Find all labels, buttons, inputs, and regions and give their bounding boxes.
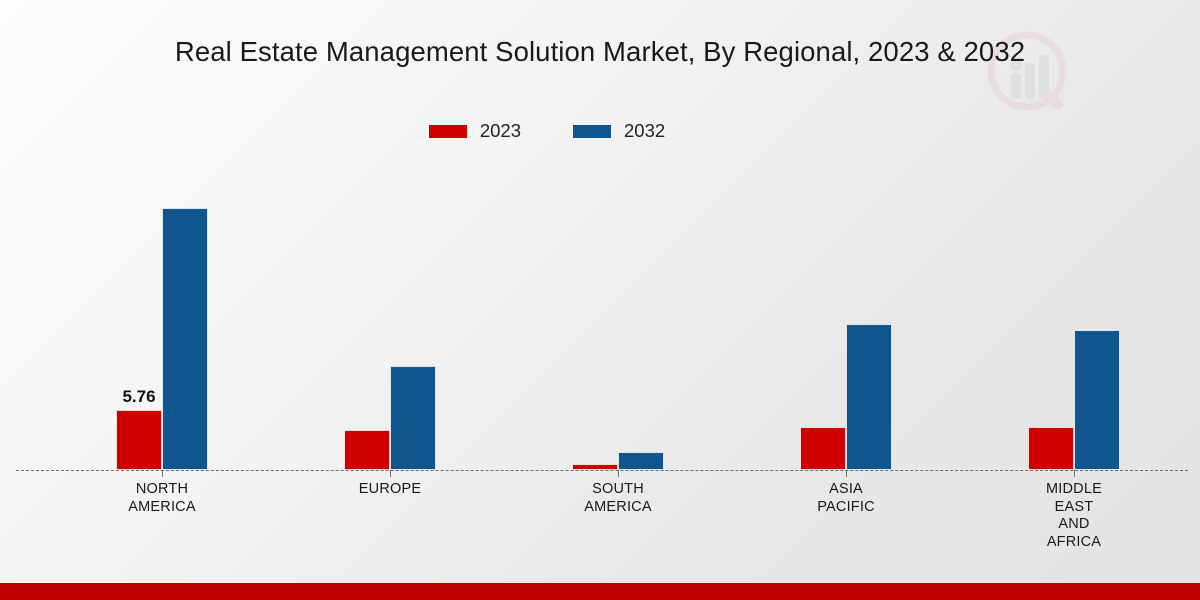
bar-groups: 5.76 bbox=[48, 170, 1188, 470]
x-axis-categories: NORTHAMERICAEUROPESOUTHAMERICAASIAPACIFI… bbox=[48, 470, 1188, 580]
axis-tick bbox=[846, 470, 847, 477]
legend-label-2023: 2023 bbox=[480, 120, 521, 142]
bar-wrapper bbox=[1028, 427, 1074, 470]
legend-swatch-2032 bbox=[573, 125, 611, 138]
bar-group bbox=[732, 170, 960, 470]
legend-item-2023[interactable]: 2023 bbox=[429, 120, 521, 142]
x-axis-tick-group: EUROPE bbox=[276, 470, 504, 580]
footer-stripe bbox=[0, 583, 1200, 600]
bar-group: 5.76 bbox=[48, 170, 276, 470]
bar-2032[interactable] bbox=[162, 208, 208, 470]
bar-wrapper bbox=[1074, 330, 1120, 470]
bar-wrapper bbox=[344, 430, 390, 470]
bar-group bbox=[960, 170, 1188, 470]
bar-2023[interactable] bbox=[116, 410, 162, 470]
x-axis-tick-group: SOUTHAMERICA bbox=[504, 470, 732, 580]
bar-2023[interactable] bbox=[344, 430, 390, 470]
x-axis-label: NORTHAMERICA bbox=[48, 481, 276, 516]
bar-pair bbox=[572, 170, 664, 470]
legend-label-2032: 2032 bbox=[624, 120, 665, 142]
bar-pair bbox=[344, 170, 436, 470]
legend-item-2032[interactable]: 2032 bbox=[573, 120, 665, 142]
axis-tick bbox=[390, 470, 391, 477]
bar-pair bbox=[1028, 170, 1120, 470]
bar-2023[interactable] bbox=[1028, 427, 1074, 470]
bar-pair: 5.76 bbox=[116, 170, 208, 470]
chart-legend: 2023 2032 bbox=[0, 120, 1200, 142]
bar-wrapper bbox=[162, 208, 208, 470]
bar-wrapper bbox=[800, 427, 846, 470]
axis-tick bbox=[618, 470, 619, 477]
bar-wrapper bbox=[390, 366, 436, 470]
bar-wrapper bbox=[846, 324, 892, 470]
bar-2032[interactable] bbox=[390, 366, 436, 470]
bar-2023[interactable] bbox=[800, 427, 846, 470]
bar-group bbox=[276, 170, 504, 470]
bar-2032[interactable] bbox=[618, 452, 664, 470]
bar-pair bbox=[800, 170, 892, 470]
bar-wrapper bbox=[618, 452, 664, 470]
bar-wrapper: 5.76 bbox=[116, 410, 162, 470]
bar-group bbox=[504, 170, 732, 470]
legend-swatch-2023 bbox=[429, 125, 467, 138]
x-axis-label: EUROPE bbox=[276, 481, 504, 499]
x-axis-label: SOUTHAMERICA bbox=[504, 481, 732, 516]
bar-value-label: 5.76 bbox=[122, 387, 155, 407]
x-axis-tick-group: NORTHAMERICA bbox=[48, 470, 276, 580]
axis-tick bbox=[162, 470, 163, 477]
bar-2032[interactable] bbox=[846, 324, 892, 470]
chart-container: Real Estate Management Solution Market, … bbox=[0, 0, 1200, 600]
x-axis-label: MIDDLEEASTANDAFRICA bbox=[960, 481, 1188, 551]
page-title: Real Estate Management Solution Market, … bbox=[0, 36, 1200, 68]
x-axis-tick-group: MIDDLEEASTANDAFRICA bbox=[960, 470, 1188, 580]
bar-2032[interactable] bbox=[1074, 330, 1120, 470]
x-axis-tick-group: ASIAPACIFIC bbox=[732, 470, 960, 580]
axis-tick bbox=[1074, 470, 1075, 477]
x-axis-label: ASIAPACIFIC bbox=[732, 481, 960, 516]
